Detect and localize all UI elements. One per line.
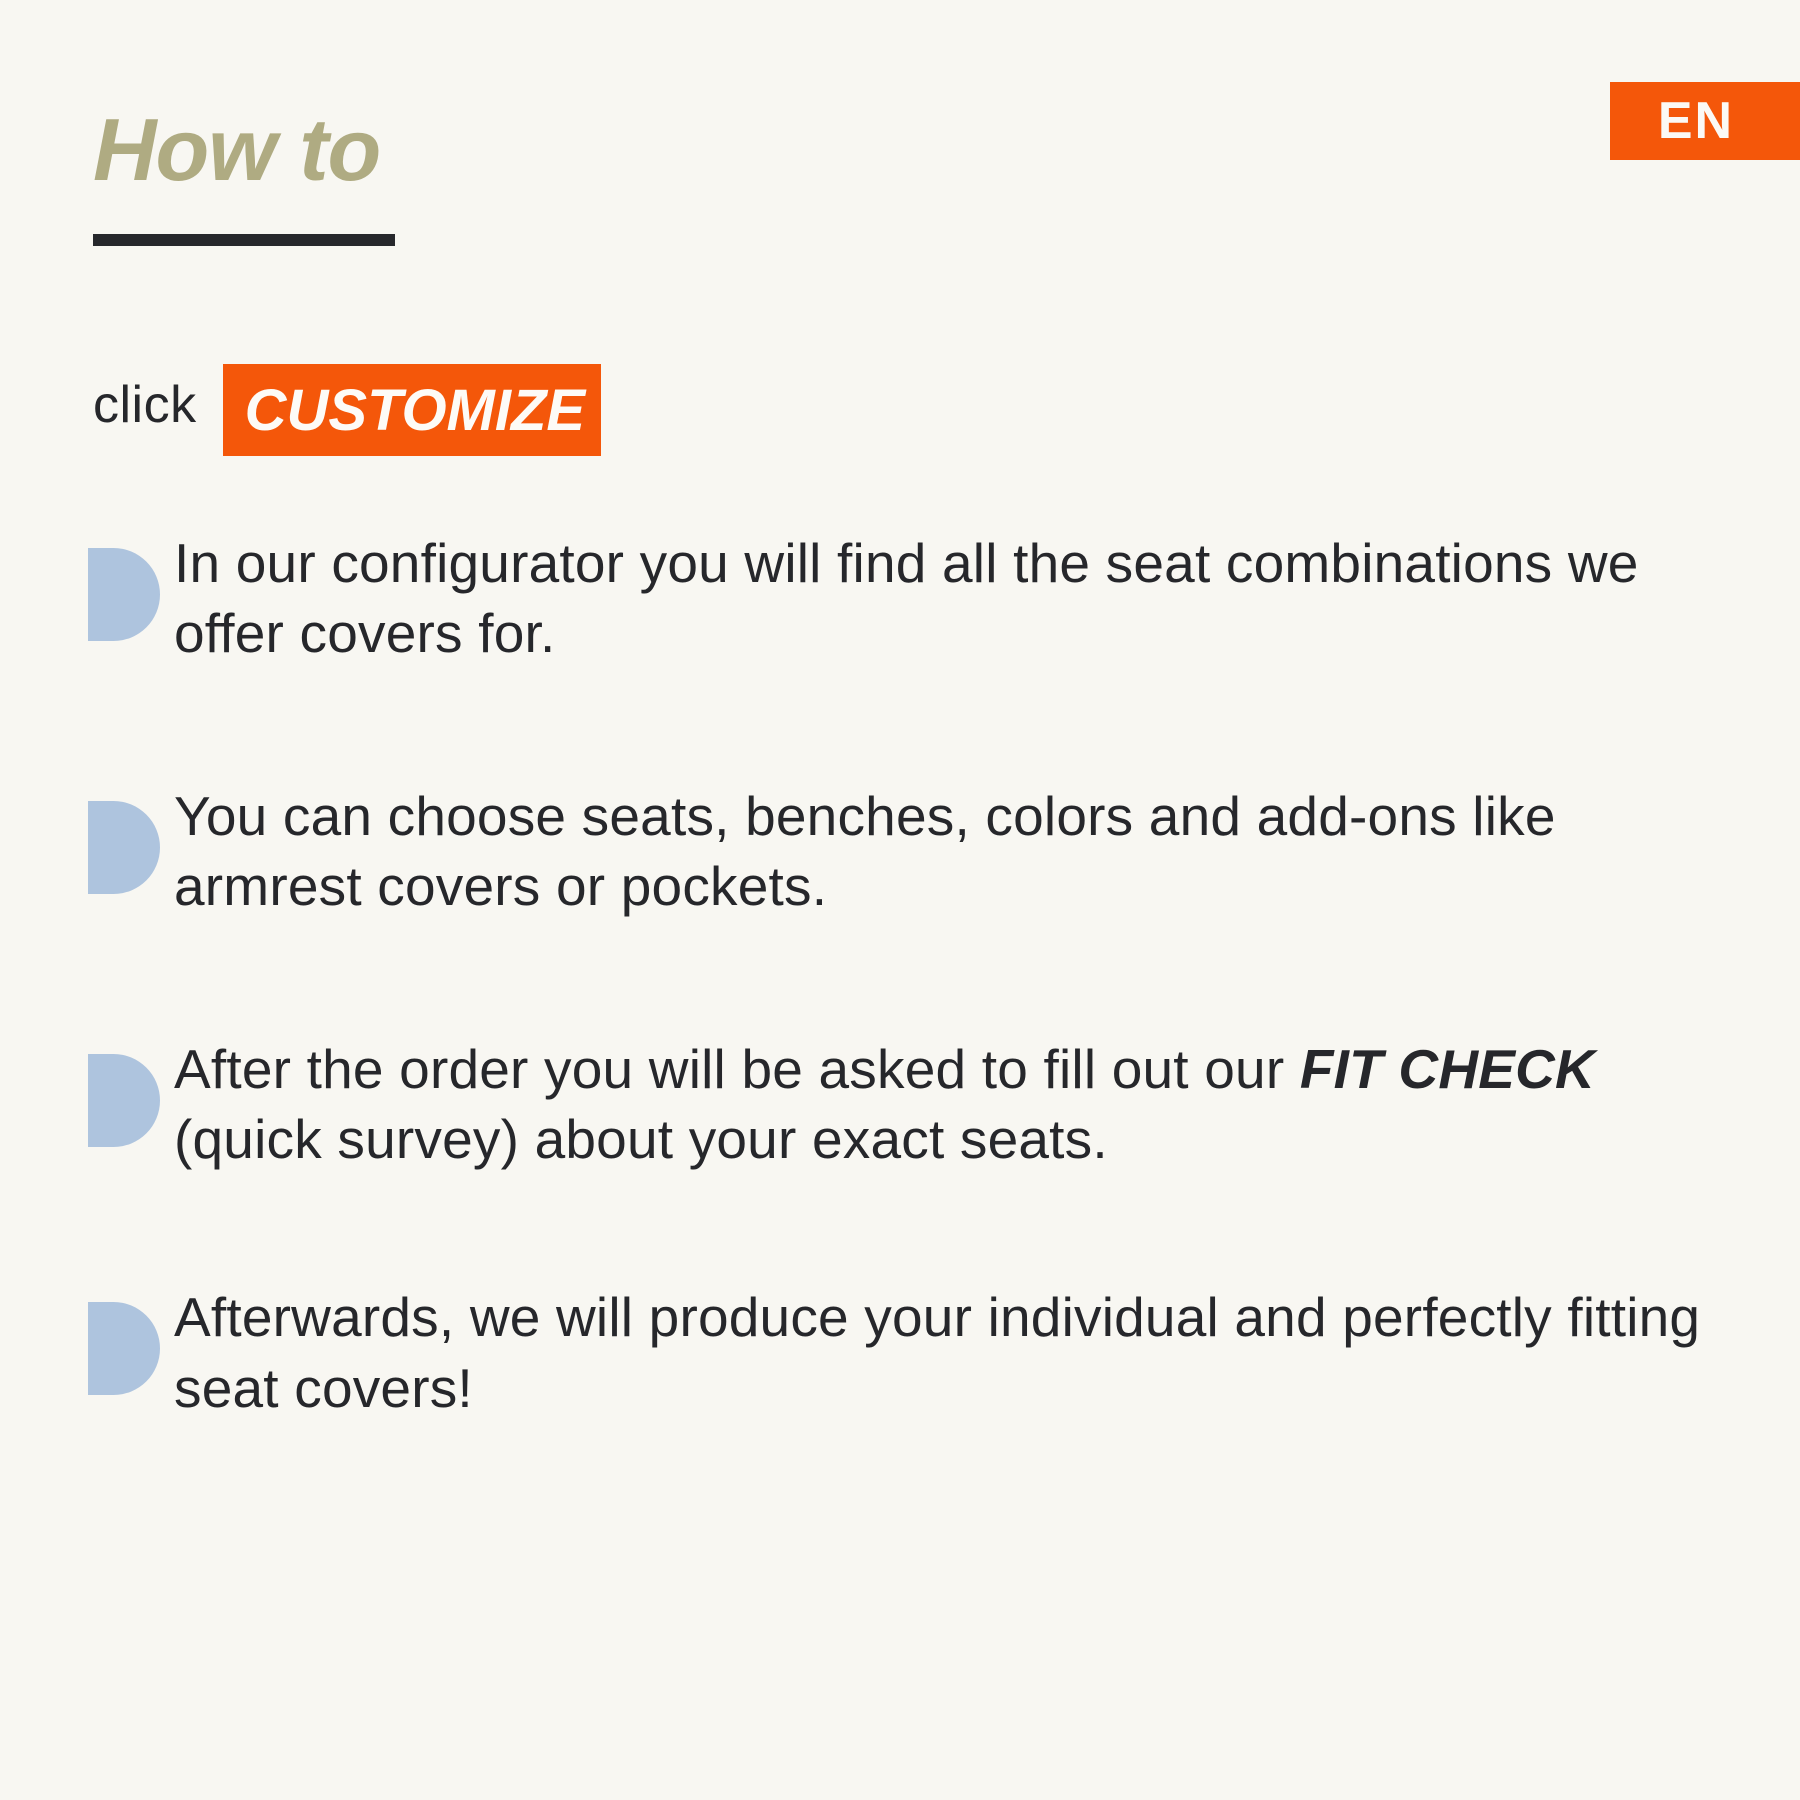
d-shape-bullet-icon — [88, 801, 160, 894]
title-underline-rule — [93, 234, 395, 246]
d-shape-bullet-icon — [88, 548, 160, 641]
step-text: After the order you will be asked to fil… — [174, 1034, 1728, 1175]
step-text: In our configurator you will find all th… — [174, 528, 1728, 669]
language-badge[interactable]: EN — [1610, 82, 1800, 160]
page-title: How to — [93, 104, 395, 196]
list-item: After the order you will be asked to fil… — [88, 1034, 1728, 1175]
d-shape-bullet-icon — [88, 1054, 160, 1147]
list-item: You can choose seats, benches, colors an… — [88, 781, 1728, 922]
list-item: Afterwards, we will produce your individ… — [88, 1282, 1728, 1423]
step-text-after: (quick survey) about your exact seats. — [174, 1108, 1108, 1170]
steps-list: In our configurator you will find all th… — [88, 528, 1728, 1423]
d-shape-bullet-icon — [88, 1302, 160, 1395]
how-to-card: EN How to click CUSTOMIZE In our configu… — [0, 0, 1800, 1800]
cta-prefix-label: click — [93, 375, 197, 435]
cta-line: click CUSTOMIZE — [93, 356, 601, 448]
customize-button-label[interactable]: CUSTOMIZE — [223, 364, 602, 456]
list-item: In our configurator you will find all th… — [88, 528, 1728, 669]
step-text-before: After the order you will be asked to fil… — [174, 1038, 1300, 1100]
header: How to — [93, 104, 395, 246]
language-badge-label: EN — [1658, 95, 1734, 147]
step-text: Afterwards, we will produce your individ… — [174, 1282, 1728, 1423]
fit-check-emphasis: FIT CHECK — [1300, 1038, 1595, 1100]
step-text: You can choose seats, benches, colors an… — [174, 781, 1728, 922]
